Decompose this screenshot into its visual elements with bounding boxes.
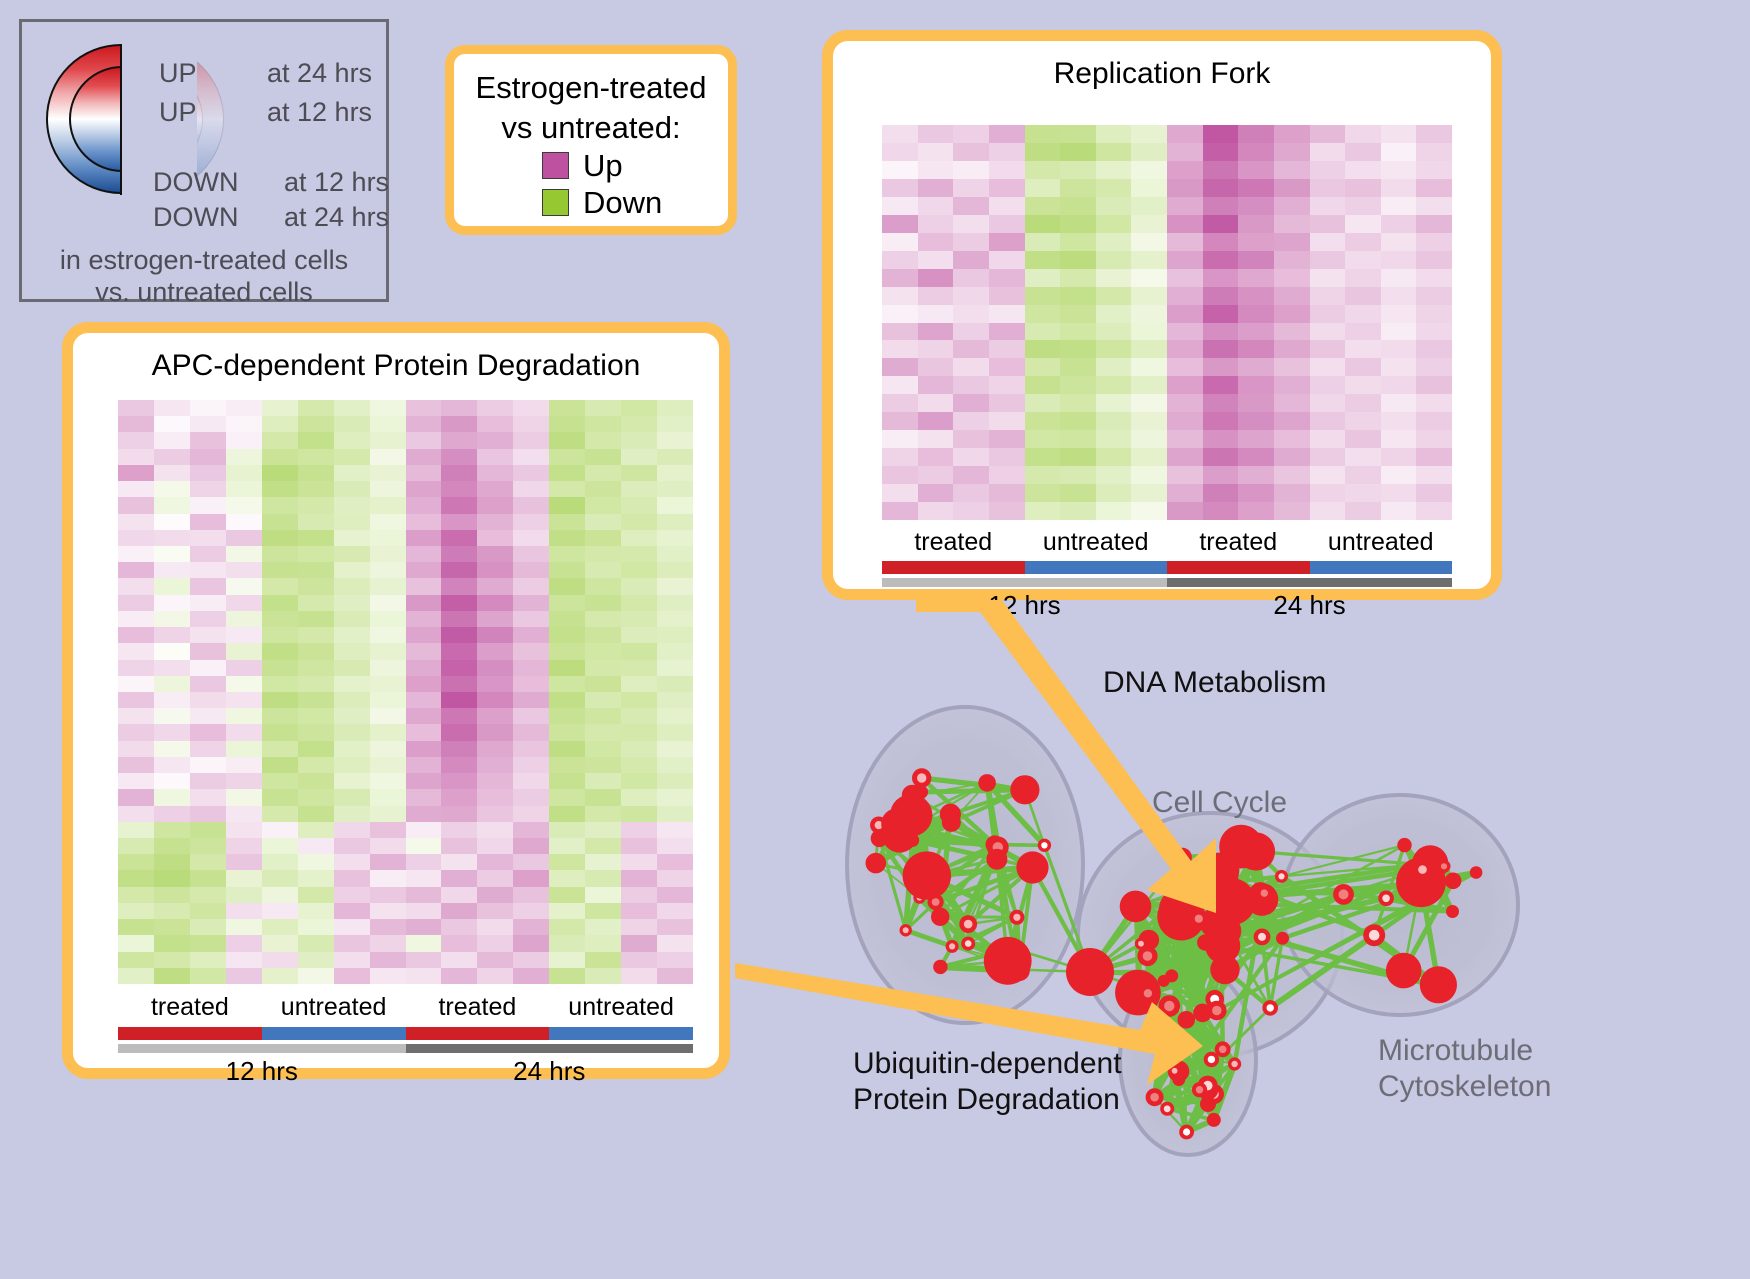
heatmap-cell	[118, 757, 154, 773]
network-node[interactable]	[1169, 1065, 1181, 1077]
heatmap-cell	[989, 323, 1025, 341]
heatmap-cell	[1310, 143, 1346, 161]
heatmap-cell	[370, 497, 406, 513]
network-node[interactable]	[1009, 910, 1024, 925]
network-node[interactable]	[900, 924, 912, 936]
heatmap-cell	[406, 611, 442, 627]
network-node[interactable]	[1178, 1011, 1196, 1029]
heatmap-cell	[441, 465, 477, 481]
heatmap-cell	[154, 400, 190, 416]
heatmap-cell	[621, 432, 657, 448]
heatmap-cell	[1416, 466, 1452, 484]
heatmap-cell	[406, 903, 442, 919]
network-node[interactable]	[1446, 905, 1459, 918]
heatmap-cell	[549, 952, 585, 968]
heatmap-cell	[334, 838, 370, 854]
cluster-label-line2: Cytoskeleton	[1378, 1069, 1551, 1105]
network-node[interactable]	[1445, 873, 1462, 890]
heatmap-cell	[1096, 305, 1132, 323]
heatmap-cell	[441, 724, 477, 740]
heatmap-cell	[118, 952, 154, 968]
heatmap-cell	[118, 789, 154, 805]
heatmap-cell	[882, 233, 918, 251]
heatmap-cell	[1203, 340, 1239, 358]
heatmap-cell	[621, 870, 657, 886]
heatmap-cell	[1131, 484, 1167, 502]
heatmap-cell	[154, 611, 190, 627]
heatmap-cell	[226, 724, 262, 740]
network-node[interactable]	[1257, 885, 1273, 901]
network-node[interactable]	[903, 851, 951, 899]
heatmap-cell	[477, 724, 513, 740]
heatmap-cell	[154, 838, 190, 854]
condition-label: treated	[406, 993, 550, 1022]
heatmap-cell	[334, 773, 370, 789]
heatmap-cell	[1060, 215, 1096, 233]
heatmap-cell	[621, 789, 657, 805]
network-node[interactable]	[1166, 891, 1187, 912]
heatmap-cell	[406, 481, 442, 497]
network-node[interactable]	[1228, 1057, 1241, 1070]
timepoint-bar-segment	[882, 578, 1167, 587]
heatmap-cell	[1167, 502, 1203, 520]
heatmap-cell	[298, 952, 334, 968]
heatmap-cell	[190, 806, 226, 822]
network-node[interactable]	[1193, 1004, 1212, 1023]
heatmap-cell	[585, 627, 621, 643]
network-node[interactable]	[1262, 1000, 1278, 1016]
heatmap-cell	[1345, 484, 1381, 502]
heatmap-cell	[513, 400, 549, 416]
heatmap-cell	[154, 952, 190, 968]
heatmap-cell	[1238, 125, 1274, 143]
heatmap-cell	[989, 376, 1025, 394]
heatmap-cell	[154, 822, 190, 838]
heatmap-cell	[441, 416, 477, 432]
network-node[interactable]	[1438, 860, 1451, 873]
heatmap-cell	[1167, 448, 1203, 466]
heatmap-cell	[585, 935, 621, 951]
heatmap-cell	[477, 935, 513, 951]
heatmap-cell	[190, 903, 226, 919]
heatmap-cell	[154, 757, 190, 773]
network-node[interactable]	[1192, 1082, 1207, 1097]
heatmap-cell	[585, 465, 621, 481]
network-node[interactable]	[1421, 974, 1442, 995]
network-node[interactable]	[866, 853, 887, 874]
heatmap-cell	[1310, 340, 1346, 358]
heatmap-cell	[657, 838, 693, 854]
network-node[interactable]	[946, 940, 959, 953]
heatmap-cell	[1167, 394, 1203, 412]
network-node[interactable]	[1414, 861, 1432, 879]
network-node[interactable]	[984, 937, 1032, 985]
heatmap-cell	[226, 416, 262, 432]
heatmap-cell	[1203, 233, 1239, 251]
heatmap-cell	[1274, 340, 1310, 358]
heatmap-cell	[918, 466, 954, 484]
heatmap-cell	[621, 757, 657, 773]
heatmap-cell	[953, 305, 989, 323]
heatmap-cell	[989, 502, 1025, 520]
network-node[interactable]	[1066, 948, 1114, 996]
heatmap-cell	[370, 660, 406, 676]
heatmap-cell	[918, 323, 954, 341]
network-node[interactable]	[1207, 1113, 1221, 1127]
heatmap-cell	[1131, 376, 1167, 394]
network-node[interactable]	[1209, 878, 1256, 925]
heatmap-cell	[621, 887, 657, 903]
heatmap-cell	[989, 412, 1025, 430]
network-node[interactable]	[1173, 848, 1192, 867]
timepoint-labels-replication-fork: 12 hrs 24 hrs	[882, 590, 1452, 621]
heatmap-cell	[298, 870, 334, 886]
heatmap-cell	[370, 806, 406, 822]
heatmap-cell	[1060, 466, 1096, 484]
legend-swatch-down	[542, 189, 569, 216]
heatmap-cell	[513, 935, 549, 951]
heatmap-cell	[226, 789, 262, 805]
heatmap-cell	[262, 968, 298, 984]
network-node[interactable]	[1276, 932, 1289, 945]
heatmap-cell	[953, 233, 989, 251]
heatmap-cell	[585, 449, 621, 465]
heatmap-cell	[657, 627, 693, 643]
heatmap-cell	[989, 251, 1025, 269]
heatmap-cell	[549, 822, 585, 838]
heatmap-cell	[953, 394, 989, 412]
network-node[interactable]	[1363, 924, 1385, 946]
heatmap-cell	[549, 870, 585, 886]
heatmap-cell	[1025, 376, 1061, 394]
network-node[interactable]	[1470, 866, 1483, 879]
heatmap-cell	[190, 595, 226, 611]
heatmap-cell	[882, 197, 918, 215]
heatmap-cell	[118, 514, 154, 530]
heatmap-cell	[190, 432, 226, 448]
heatmap-cell	[1096, 502, 1132, 520]
heatmap-cell	[1167, 287, 1203, 305]
heatmap-cell	[989, 358, 1025, 376]
heatmap-cell	[190, 578, 226, 594]
heatmap-cell	[657, 854, 693, 870]
heatmap-cell	[1416, 376, 1452, 394]
heatmap-cell	[334, 919, 370, 935]
heatmap-cell	[549, 708, 585, 724]
heatmap-cell	[154, 919, 190, 935]
network-node[interactable]	[890, 794, 932, 836]
heatmap-cell	[882, 143, 918, 161]
heatmap-cell	[441, 643, 477, 659]
heatmap-cell	[1381, 448, 1417, 466]
heatmap-cell	[406, 497, 442, 513]
network-node[interactable]	[1237, 832, 1275, 870]
cluster-label-line1: Microtubule	[1378, 1033, 1551, 1069]
heatmap-cell	[298, 676, 334, 692]
heatmap-cell	[1025, 269, 1061, 287]
heatmap-cell	[1060, 125, 1096, 143]
heatmap-cell	[118, 854, 154, 870]
network-node[interactable]	[1275, 870, 1288, 883]
heatmap-cell	[549, 757, 585, 773]
heatmap-cell	[918, 412, 954, 430]
heatmap-cell	[1345, 340, 1381, 358]
heatmap-cell	[657, 822, 693, 838]
network-node[interactable]	[1378, 891, 1394, 907]
heatmap-cell	[1096, 376, 1132, 394]
network-node[interactable]	[942, 813, 961, 832]
heatmap-cell	[154, 854, 190, 870]
heatmap-cell	[406, 546, 442, 562]
heatmap-cell	[1345, 287, 1381, 305]
heatmap-cell	[621, 643, 657, 659]
heatmap-cell	[621, 935, 657, 951]
network-node[interactable]	[1010, 775, 1039, 804]
heatmap-cell	[190, 562, 226, 578]
network-node[interactable]	[1205, 928, 1240, 963]
heatmap-cell	[477, 643, 513, 659]
heatmap-cell	[370, 643, 406, 659]
heatmap-cell	[370, 708, 406, 724]
heatmap-cell	[298, 919, 334, 935]
heatmap-cell	[989, 484, 1025, 502]
heatmap-cell	[1274, 484, 1310, 502]
heatmap-cell	[513, 903, 549, 919]
heatmap-cell	[406, 627, 442, 643]
heatmap-cell	[298, 497, 334, 513]
network-node[interactable]	[978, 774, 996, 792]
heatmap-cell	[621, 919, 657, 935]
heatmap-cell	[621, 903, 657, 919]
heatmap-cell	[1274, 323, 1310, 341]
network-node[interactable]	[1146, 1088, 1164, 1106]
network-node[interactable]	[1139, 985, 1156, 1002]
heatmap-cell	[118, 724, 154, 740]
heatmap-cell	[118, 773, 154, 789]
network-node[interactable]	[912, 768, 931, 787]
heatmap-cell	[262, 757, 298, 773]
heatmap-cell	[513, 968, 549, 984]
heatmap-cell	[262, 449, 298, 465]
heatmap-cell	[1310, 323, 1346, 341]
heatmap-cell	[406, 465, 442, 481]
network-node[interactable]	[1016, 851, 1048, 883]
heatmap-cell	[882, 358, 918, 376]
heatmap-cell	[513, 757, 549, 773]
heatmap-cell	[1096, 197, 1132, 215]
heatmap-cell	[477, 789, 513, 805]
heatmap-cell	[549, 481, 585, 497]
heatmap-cell	[657, 870, 693, 886]
network-node[interactable]	[933, 960, 947, 974]
heatmap-cell	[154, 432, 190, 448]
heatmap-cell	[298, 806, 334, 822]
heatmap-cell	[1238, 179, 1274, 197]
heatmap-cell	[621, 741, 657, 757]
network-node[interactable]	[1160, 1102, 1174, 1116]
network-node[interactable]	[1179, 1125, 1194, 1140]
heatmap-cell	[989, 287, 1025, 305]
condition-label: untreated	[549, 993, 693, 1022]
heatmap-cell	[406, 595, 442, 611]
heatmap-cell	[1203, 305, 1239, 323]
heatmap-cell	[1381, 143, 1417, 161]
heatmap-cell	[477, 449, 513, 465]
heatmap-cell	[118, 887, 154, 903]
heatmap-cell	[298, 465, 334, 481]
heatmap-cell	[118, 595, 154, 611]
network-node[interactable]	[1038, 839, 1051, 852]
heatmap-cell	[226, 562, 262, 578]
ring-divider-line	[120, 44, 122, 195]
heatmap-cell	[298, 514, 334, 530]
network-node[interactable]	[1333, 884, 1354, 905]
heatmap-cell	[1096, 323, 1132, 341]
network-node[interactable]	[931, 908, 949, 926]
heatmap-cell	[1345, 323, 1381, 341]
heatmap-cell	[334, 903, 370, 919]
network-node[interactable]	[1386, 953, 1422, 989]
heatmap-cell	[513, 822, 549, 838]
heatmap-cell	[549, 724, 585, 740]
heatmap-cell	[477, 611, 513, 627]
heatmap-cell	[1060, 251, 1096, 269]
heatmap-cell	[477, 903, 513, 919]
heatmap-cell	[441, 562, 477, 578]
heatmap-cell	[1274, 448, 1310, 466]
heatmap-cell	[118, 708, 154, 724]
heatmap-cell	[190, 789, 226, 805]
heatmap-cell	[953, 502, 989, 520]
heatmap-cell	[1203, 448, 1239, 466]
heatmap-cell	[262, 562, 298, 578]
heatmap-cell	[334, 692, 370, 708]
heatmap-cell	[918, 251, 954, 269]
network-node[interactable]	[1200, 1096, 1216, 1112]
heatmap-cell	[118, 741, 154, 757]
heatmap-cell	[298, 968, 334, 984]
network-node[interactable]	[1158, 975, 1170, 987]
network-node[interactable]	[1397, 838, 1411, 852]
heatmap-cell	[1025, 215, 1061, 233]
heatmap-cell	[1096, 125, 1132, 143]
heatmap-cell	[406, 968, 442, 984]
network-node[interactable]	[986, 849, 1007, 870]
heatmap-cell	[1310, 233, 1346, 251]
network-node[interactable]	[1190, 910, 1207, 927]
heatmap-cell	[370, 919, 406, 935]
heatmap-cell	[370, 935, 406, 951]
heatmap-cell	[549, 741, 585, 757]
heatmap-cell	[226, 838, 262, 854]
heatmap-cell	[1096, 179, 1132, 197]
heatmap-cell	[1345, 197, 1381, 215]
heatmap-cell	[1025, 287, 1061, 305]
heatmap-cell	[1096, 448, 1132, 466]
heatmap-cell	[406, 741, 442, 757]
heatmap-cell	[1060, 484, 1096, 502]
network-node[interactable]	[1198, 873, 1215, 890]
heatmap-cell	[262, 724, 298, 740]
heatmap-cell	[1416, 215, 1452, 233]
heatmap-cell	[585, 757, 621, 773]
heatmap-cell	[1096, 358, 1132, 376]
heatmap-cell	[1274, 305, 1310, 323]
network-node[interactable]	[1120, 891, 1152, 923]
heatmap-cell	[1167, 179, 1203, 197]
heatmap-cell	[1345, 161, 1381, 179]
heatmap-cell	[549, 578, 585, 594]
key-footer-text: in estrogen-treated cells vs. untreated …	[22, 244, 386, 308]
network-node[interactable]	[1215, 1041, 1231, 1057]
heatmap-cell	[1274, 179, 1310, 197]
heatmap-cell	[657, 952, 693, 968]
legend-title-line1: Estrogen-treated	[454, 68, 728, 108]
heatmap-cell	[226, 432, 262, 448]
heatmap-cell	[154, 789, 190, 805]
heatmap-cell	[657, 514, 693, 530]
heatmap-cell	[334, 676, 370, 692]
heatmap-cell	[657, 935, 693, 951]
heatmap-cell	[262, 497, 298, 513]
heatmap-cell	[882, 179, 918, 197]
heatmap-cell	[989, 215, 1025, 233]
heatmap-cell	[118, 416, 154, 432]
network-node[interactable]	[959, 915, 977, 933]
heatmap-cell	[585, 530, 621, 546]
network-node[interactable]	[1159, 995, 1181, 1017]
heatmap-cell	[370, 578, 406, 594]
network-node[interactable]	[1254, 929, 1271, 946]
heatmap-cell	[1167, 233, 1203, 251]
heatmap-cell	[477, 562, 513, 578]
heatmap-cell	[1025, 251, 1061, 269]
network-node[interactable]	[961, 937, 975, 951]
heatmap-cell	[226, 708, 262, 724]
heatmap-cell	[441, 968, 477, 984]
heatmap-cell	[190, 773, 226, 789]
heatmap-cell	[154, 416, 190, 432]
heatmap-cell	[334, 741, 370, 757]
heatmap-cell	[989, 143, 1025, 161]
heatmap-cell	[1203, 412, 1239, 430]
heatmap-cell	[1096, 233, 1132, 251]
heatmap-cell	[334, 481, 370, 497]
heatmap-cell	[1310, 179, 1346, 197]
heatmap-cell	[1025, 502, 1061, 520]
heatmap-cell	[477, 952, 513, 968]
heatmap-cell	[190, 741, 226, 757]
heatmap-cell	[118, 692, 154, 708]
heatmap-cell	[1025, 323, 1061, 341]
heatmap-cell	[585, 903, 621, 919]
heatmap-cell	[1416, 412, 1452, 430]
heatmap-cell	[441, 660, 477, 676]
heatmap-cell	[1060, 233, 1096, 251]
condition-label: treated	[1167, 528, 1310, 557]
network-node[interactable]	[1135, 938, 1147, 950]
heatmap-cell	[118, 449, 154, 465]
heatmap-cell	[1381, 215, 1417, 233]
timepoint-label: 12 hrs	[118, 1056, 406, 1087]
heatmap-cell	[190, 449, 226, 465]
heatmap-cell	[154, 887, 190, 903]
heatmap-cell	[1274, 502, 1310, 520]
heatmap-cell	[406, 952, 442, 968]
heatmap-cell	[298, 708, 334, 724]
heatmap-cell	[298, 595, 334, 611]
heatmap-cell	[513, 432, 549, 448]
